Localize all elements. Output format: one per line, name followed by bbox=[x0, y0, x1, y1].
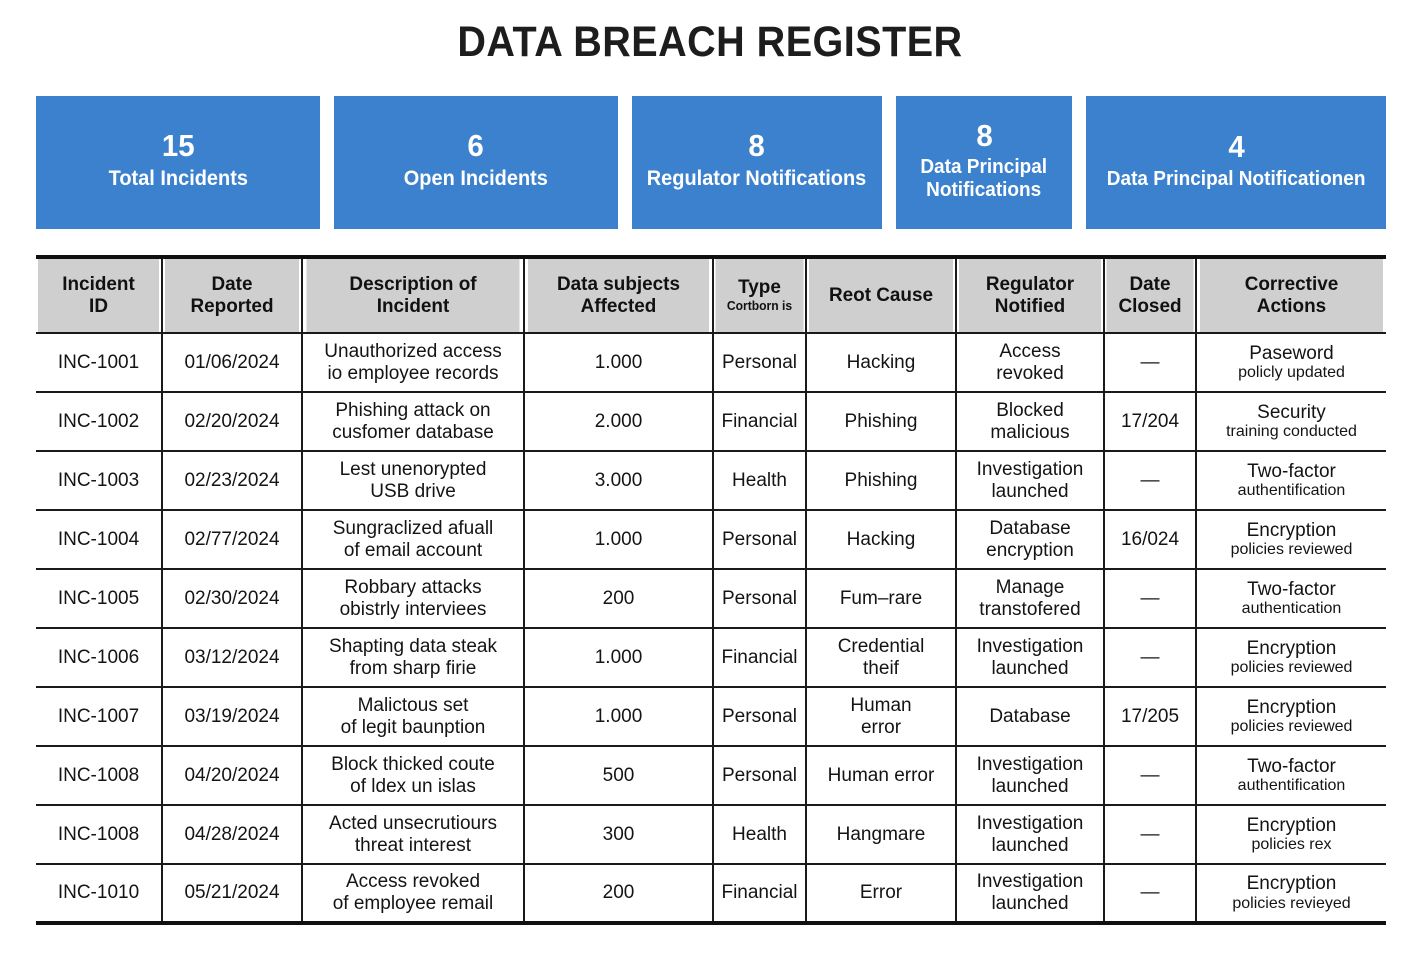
table-row[interactable]: INC-100402/77/2024Sungraclized afuallof … bbox=[36, 510, 1386, 569]
regulator-line-2: launched bbox=[961, 481, 1099, 503]
corrective-line-1: Encryption bbox=[1201, 520, 1382, 542]
kpi-card-total-incidents[interactable]: 15 Total Incidents bbox=[36, 96, 320, 229]
header-line-1: Reot Cause bbox=[829, 284, 933, 306]
description-line-2: threat interest bbox=[307, 835, 519, 857]
root-cause-line-1: Fum–rare bbox=[811, 588, 951, 610]
header-line-1: Date bbox=[211, 273, 252, 295]
cell-data-subjects-affected: 1.000 bbox=[524, 687, 713, 746]
cell-corrective-actions: Encryptionpolicies revieyed bbox=[1196, 864, 1386, 923]
kpi-value: 6 bbox=[468, 130, 484, 163]
regulator-line-1: Investigation bbox=[961, 754, 1099, 776]
column-header-incident-id[interactable]: Incident ID bbox=[38, 257, 160, 333]
description-line-1: Acted unsecrutiours bbox=[307, 813, 519, 835]
cell-incident-id: INC-1010 bbox=[36, 864, 162, 923]
cell-incident-id: INC-1005 bbox=[36, 569, 162, 628]
cell-date-closed: — bbox=[1104, 746, 1196, 805]
cell-root-cause: Humanerror bbox=[806, 687, 956, 746]
cell-corrective-actions: Encryptionpolicies rex bbox=[1196, 805, 1386, 864]
cell-regulator-notified: Investigationlaunched bbox=[956, 451, 1104, 510]
incident-id-value: INC-1008 bbox=[40, 824, 157, 846]
regulator-line-2: launched bbox=[961, 893, 1099, 915]
cell-regulator-notified: Databaseencryption bbox=[956, 510, 1104, 569]
cell-corrective-actions: Encryptionpolicies reviewed bbox=[1196, 628, 1386, 687]
column-header-regulator-notified[interactable]: Regulator Notified bbox=[958, 257, 1102, 333]
root-cause-line-1: Phishing bbox=[811, 411, 951, 433]
date-closed-value: 17/204 bbox=[1109, 411, 1191, 433]
data-subjects-value: 300 bbox=[529, 824, 708, 846]
root-cause-line-1: Credential bbox=[811, 636, 951, 658]
root-cause-line-1: Error bbox=[811, 882, 951, 904]
cell-data-subjects-affected: 1.000 bbox=[524, 333, 713, 392]
type-value: Personal bbox=[718, 706, 801, 728]
cell-root-cause: Phishing bbox=[806, 451, 956, 510]
corrective-line-1: Two-factor bbox=[1201, 579, 1382, 601]
description-line-2: USB drive bbox=[307, 481, 519, 503]
description-line-2: obistrly interviees bbox=[307, 599, 519, 621]
date-closed-value: — bbox=[1109, 824, 1191, 846]
root-cause-line-1: Phishing bbox=[811, 470, 951, 492]
regulator-line-2: malicious bbox=[961, 422, 1099, 444]
corrective-line-2: policly updated bbox=[1201, 364, 1382, 382]
regulator-line-1: Database bbox=[961, 518, 1099, 540]
regulator-line-1: Investigation bbox=[961, 871, 1099, 893]
cell-data-subjects-affected: 1.000 bbox=[524, 510, 713, 569]
cell-description: Malictous setof legit baunption bbox=[302, 687, 524, 746]
column-header-data-subjects-affected[interactable]: Data subjects Affected bbox=[527, 257, 710, 333]
header-line-2: Notified bbox=[995, 295, 1065, 317]
cell-date-reported: 04/20/2024 bbox=[162, 746, 302, 805]
cell-corrective-actions: Two-factorauthentification bbox=[1196, 746, 1386, 805]
incident-id-value: INC-1005 bbox=[40, 588, 157, 610]
date-closed-value: — bbox=[1109, 647, 1191, 669]
cell-incident-id: INC-1008 bbox=[36, 805, 162, 864]
column-header-description[interactable]: Description of Incident bbox=[305, 257, 520, 333]
cell-incident-id: INC-1007 bbox=[36, 687, 162, 746]
type-value: Health bbox=[718, 470, 801, 492]
date-reported-value: 04/28/2024 bbox=[167, 824, 297, 846]
kpi-label: Data Principal Notificationen bbox=[1107, 168, 1366, 190]
cell-date-reported: 02/20/2024 bbox=[162, 392, 302, 451]
cell-root-cause: Hacking bbox=[806, 510, 956, 569]
corrective-line-2: policies reviewed bbox=[1201, 541, 1382, 559]
table-header-row: Incident ID Date Reported Description of… bbox=[36, 257, 1386, 333]
description-line-1: Sungraclized afuall bbox=[307, 518, 519, 540]
cell-corrective-actions: Pasewordpolicly updated bbox=[1196, 333, 1386, 392]
corrective-line-2: authentication bbox=[1201, 600, 1382, 618]
kpi-label: Open Incidents bbox=[404, 167, 548, 191]
table-row[interactable]: INC-100502/30/2024Robbary attacksobistrl… bbox=[36, 569, 1386, 628]
cell-description: Lest unenoryptedUSB drive bbox=[302, 451, 524, 510]
cell-date-closed: — bbox=[1104, 451, 1196, 510]
table-row[interactable]: INC-100302/23/2024Lest unenoryptedUSB dr… bbox=[36, 451, 1386, 510]
type-value: Personal bbox=[718, 588, 801, 610]
corrective-line-2: policies reviewed bbox=[1201, 718, 1382, 736]
cell-type: Health bbox=[713, 805, 806, 864]
description-line-1: Block thicked coute bbox=[307, 754, 519, 776]
date-closed-value: — bbox=[1109, 588, 1191, 610]
cell-regulator-notified: Investigationlaunched bbox=[956, 864, 1104, 923]
date-reported-value: 02/77/2024 bbox=[167, 529, 297, 551]
root-cause-line-1: Hacking bbox=[811, 352, 951, 374]
data-subjects-value: 200 bbox=[529, 588, 708, 610]
cell-date-reported: 03/19/2024 bbox=[162, 687, 302, 746]
cell-date-reported: 02/23/2024 bbox=[162, 451, 302, 510]
regulator-line-2: revoked bbox=[961, 363, 1099, 385]
root-cause-line-1: Hangmare bbox=[811, 824, 951, 846]
header-line-2: Reported bbox=[190, 295, 273, 317]
table-row[interactable]: INC-100804/28/2024Acted unsecrutioursthr… bbox=[36, 805, 1386, 864]
data-subjects-value: 3.000 bbox=[529, 470, 708, 492]
root-cause-line-2: error bbox=[811, 717, 951, 739]
header-line-1: Type bbox=[738, 276, 781, 298]
corrective-line-2: training conducted bbox=[1201, 423, 1382, 441]
corrective-line-2: authentification bbox=[1201, 777, 1382, 795]
corrective-line-2: policies revieyed bbox=[1201, 895, 1382, 913]
kpi-card-regulator-notifications[interactable]: 8 Regulator Notifications bbox=[632, 96, 882, 229]
incident-id-value: INC-1001 bbox=[40, 352, 157, 374]
regulator-line-2: transtofered bbox=[961, 599, 1099, 621]
root-cause-line-1: Hacking bbox=[811, 529, 951, 551]
cell-date-reported: 03/12/2024 bbox=[162, 628, 302, 687]
cell-type: Personal bbox=[713, 687, 806, 746]
incident-id-value: INC-1008 bbox=[40, 765, 157, 787]
cell-regulator-notified: Accessrevoked bbox=[956, 333, 1104, 392]
corrective-line-1: Security bbox=[1201, 402, 1382, 424]
description-line-1: Robbary attacks bbox=[307, 577, 519, 599]
cell-regulator-notified: Investigationlaunched bbox=[956, 746, 1104, 805]
cell-incident-id: INC-1003 bbox=[36, 451, 162, 510]
type-value: Financial bbox=[718, 411, 801, 433]
corrective-line-2: policies reviewed bbox=[1201, 659, 1382, 677]
table-row[interactable]: INC-100703/19/2024Malictous setof legit … bbox=[36, 687, 1386, 746]
date-closed-value: — bbox=[1109, 352, 1191, 374]
type-value: Personal bbox=[718, 765, 801, 787]
cell-description: Phishing attack oncusfomer database bbox=[302, 392, 524, 451]
kpi-value: 8 bbox=[749, 130, 765, 163]
corrective-line-1: Encryption bbox=[1201, 697, 1382, 719]
cell-data-subjects-affected: 1.000 bbox=[524, 628, 713, 687]
kpi-card-open-incidents[interactable]: 6 Open Incidents bbox=[334, 96, 618, 229]
incident-id-value: INC-1010 bbox=[40, 882, 157, 904]
cell-description: Sungraclized afuallof email account bbox=[302, 510, 524, 569]
cell-date-reported: 02/30/2024 bbox=[162, 569, 302, 628]
type-value: Personal bbox=[718, 352, 801, 374]
cell-incident-id: INC-1002 bbox=[36, 392, 162, 451]
description-line-1: Access revoked bbox=[307, 871, 519, 893]
cell-data-subjects-affected: 500 bbox=[524, 746, 713, 805]
column-header-type[interactable]: Type Cortborn is bbox=[714, 257, 804, 333]
description-line-1: Shapting data steak bbox=[307, 636, 519, 658]
header-line-1: Incident bbox=[62, 273, 135, 295]
date-closed-value: 17/205 bbox=[1109, 706, 1191, 728]
root-cause-line-1: Human error bbox=[811, 765, 951, 787]
cell-regulator-notified: Investigationlaunched bbox=[956, 628, 1104, 687]
table-body: INC-100101/06/2024Unauthorized accessio … bbox=[36, 333, 1386, 923]
kpi-label: Regulator Notifications bbox=[647, 167, 866, 191]
regulator-line-2: launched bbox=[961, 658, 1099, 680]
date-closed-value: — bbox=[1109, 882, 1191, 904]
regulator-line-2: launched bbox=[961, 835, 1099, 857]
cell-regulator-notified: Managetranstofered bbox=[956, 569, 1104, 628]
cell-date-closed: 16/024 bbox=[1104, 510, 1196, 569]
regulator-line-1: Investigation bbox=[961, 636, 1099, 658]
column-header-root-cause[interactable]: Reot Cause bbox=[808, 257, 954, 333]
cell-type: Personal bbox=[713, 510, 806, 569]
type-value: Personal bbox=[718, 529, 801, 551]
cell-date-reported: 02/77/2024 bbox=[162, 510, 302, 569]
header-line-1: Corrective bbox=[1245, 273, 1339, 295]
description-line-2: of email account bbox=[307, 540, 519, 562]
cell-data-subjects-affected: 200 bbox=[524, 569, 713, 628]
type-value: Financial bbox=[718, 882, 801, 904]
cell-corrective-actions: Two-factorauthentification bbox=[1196, 451, 1386, 510]
cell-corrective-actions: Encryptionpolicies reviewed bbox=[1196, 687, 1386, 746]
table-row[interactable]: INC-100603/12/2024Shapting data steakfro… bbox=[36, 628, 1386, 687]
data-subjects-value: 500 bbox=[529, 765, 708, 787]
register-table-wrapper: Incident ID Date Reported Description of… bbox=[36, 255, 1386, 925]
regulator-line-1: Investigation bbox=[961, 813, 1099, 835]
header-line-1: Regulator bbox=[986, 273, 1074, 295]
description-line-2: of legit baunption bbox=[307, 717, 519, 739]
header-line-2: ID bbox=[89, 295, 108, 317]
cell-regulator-notified: Investigationlaunched bbox=[956, 805, 1104, 864]
description-line-2: of employee remail bbox=[307, 893, 519, 915]
description-line-2: of ldex un islas bbox=[307, 776, 519, 798]
kpi-card-data-principal-notificationen[interactable]: 4 Data Principal Notificationen bbox=[1086, 96, 1386, 229]
page-title: DATA BREACH REGISTER bbox=[57, 18, 1363, 67]
corrective-line-1: Encryption bbox=[1201, 873, 1382, 895]
cell-root-cause: Error bbox=[806, 864, 956, 923]
cell-description: Block thicked couteof ldex un islas bbox=[302, 746, 524, 805]
kpi-value: 15 bbox=[162, 130, 195, 163]
cell-description: Unauthorized accessio employee records bbox=[302, 333, 524, 392]
incident-id-value: INC-1006 bbox=[40, 647, 157, 669]
cell-regulator-notified: Blockedmalicious bbox=[956, 392, 1104, 451]
cell-type: Financial bbox=[713, 392, 806, 451]
description-line-1: Phishing attack on bbox=[307, 400, 519, 422]
date-reported-value: 02/20/2024 bbox=[167, 411, 297, 433]
header-line-2: Closed bbox=[1118, 295, 1181, 317]
cell-root-cause: Phishing bbox=[806, 392, 956, 451]
incident-id-value: INC-1007 bbox=[40, 706, 157, 728]
regulator-line-2: launched bbox=[961, 776, 1099, 798]
data-subjects-value: 1.000 bbox=[529, 647, 708, 669]
date-reported-value: 03/12/2024 bbox=[167, 647, 297, 669]
cell-root-cause: Hacking bbox=[806, 333, 956, 392]
kpi-value: 4 bbox=[1228, 131, 1244, 164]
cell-incident-id: INC-1004 bbox=[36, 510, 162, 569]
cell-root-cause: Human error bbox=[806, 746, 956, 805]
cell-data-subjects-affected: 300 bbox=[524, 805, 713, 864]
cell-regulator-notified: Database bbox=[956, 687, 1104, 746]
corrective-line-1: Two-factor bbox=[1201, 461, 1382, 483]
cell-data-subjects-affected: 2.000 bbox=[524, 392, 713, 451]
kpi-card-row: 15 Total Incidents 6 Open Incidents 8 Re… bbox=[36, 96, 1386, 229]
date-reported-value: 01/06/2024 bbox=[167, 352, 297, 374]
date-closed-value: 16/024 bbox=[1109, 529, 1191, 551]
header-line-2: Incident bbox=[377, 295, 450, 317]
description-line-2: cusfomer database bbox=[307, 422, 519, 444]
table-row[interactable]: INC-100804/20/2024Block thicked couteof … bbox=[36, 746, 1386, 805]
regulator-line-1: Database bbox=[961, 706, 1099, 728]
header-line-1: Data subjects bbox=[557, 273, 680, 295]
regulator-line-1: Manage bbox=[961, 577, 1099, 599]
cell-data-subjects-affected: 200 bbox=[524, 864, 713, 923]
root-cause-line-2: theif bbox=[811, 658, 951, 680]
cell-date-reported: 01/06/2024 bbox=[162, 333, 302, 392]
corrective-line-1: Encryption bbox=[1201, 815, 1382, 837]
corrective-line-2: authentification bbox=[1201, 482, 1382, 500]
corrective-line-1: Paseword bbox=[1201, 343, 1382, 365]
kpi-label: Total Incidents bbox=[108, 167, 247, 191]
cell-corrective-actions: Two-factorauthentication bbox=[1196, 569, 1386, 628]
column-header-corrective-actions[interactable]: Corrective Actions bbox=[1199, 257, 1383, 333]
column-header-date-reported[interactable]: Date Reported bbox=[164, 257, 300, 333]
root-cause-line-1: Human bbox=[811, 695, 951, 717]
cell-data-subjects-affected: 3.000 bbox=[524, 451, 713, 510]
header-line-1: Date bbox=[1129, 273, 1170, 295]
date-reported-value: 02/23/2024 bbox=[167, 470, 297, 492]
cell-incident-id: INC-1006 bbox=[36, 628, 162, 687]
type-value: Financial bbox=[718, 647, 801, 669]
cell-incident-id: INC-1008 bbox=[36, 746, 162, 805]
corrective-line-2: policies rex bbox=[1201, 836, 1382, 854]
data-subjects-value: 1.000 bbox=[529, 706, 708, 728]
cell-incident-id: INC-1001 bbox=[36, 333, 162, 392]
kpi-label: Data Principal Notifications bbox=[921, 156, 1048, 201]
corrective-line-1: Two-factor bbox=[1201, 756, 1382, 778]
cell-type: Financial bbox=[713, 864, 806, 923]
date-closed-value: — bbox=[1109, 765, 1191, 787]
cell-root-cause: Fum–rare bbox=[806, 569, 956, 628]
header-line-2: Affected bbox=[581, 295, 657, 317]
cell-description: Robbary attacksobistrly interviees bbox=[302, 569, 524, 628]
data-breach-register-table: Incident ID Date Reported Description of… bbox=[36, 255, 1386, 925]
cell-description: Access revokedof employee remail bbox=[302, 864, 524, 923]
table-header: Incident ID Date Reported Description of… bbox=[36, 257, 1386, 333]
cell-type: Personal bbox=[713, 569, 806, 628]
cell-root-cause: Credentialtheif bbox=[806, 628, 956, 687]
description-line-2: io employee records bbox=[307, 363, 519, 385]
date-reported-value: 02/30/2024 bbox=[167, 588, 297, 610]
table-row[interactable]: INC-100101/06/2024Unauthorized accessio … bbox=[36, 333, 1386, 392]
cell-type: Personal bbox=[713, 333, 806, 392]
cell-date-closed: — bbox=[1104, 333, 1196, 392]
column-header-date-closed[interactable]: Date Closed bbox=[1105, 257, 1194, 333]
cell-root-cause: Hangmare bbox=[806, 805, 956, 864]
cell-type: Personal bbox=[713, 746, 806, 805]
data-subjects-value: 200 bbox=[529, 882, 708, 904]
table-row[interactable]: INC-101005/21/2024Access revokedof emplo… bbox=[36, 864, 1386, 923]
data-breach-register-page: DATA BREACH REGISTER 15 Total Incidents … bbox=[0, 0, 1420, 960]
date-reported-value: 03/19/2024 bbox=[167, 706, 297, 728]
cell-date-closed: — bbox=[1104, 864, 1196, 923]
cell-corrective-actions: Securitytraining conducted bbox=[1196, 392, 1386, 451]
cell-date-closed: 17/205 bbox=[1104, 687, 1196, 746]
cell-date-reported: 05/21/2024 bbox=[162, 864, 302, 923]
incident-id-value: INC-1002 bbox=[40, 411, 157, 433]
cell-type: Financial bbox=[713, 628, 806, 687]
cell-description: Acted unsecrutioursthreat interest bbox=[302, 805, 524, 864]
cell-date-closed: — bbox=[1104, 569, 1196, 628]
cell-corrective-actions: Encryptionpolicies reviewed bbox=[1196, 510, 1386, 569]
description-line-1: Lest unenorypted bbox=[307, 459, 519, 481]
date-reported-value: 05/21/2024 bbox=[167, 882, 297, 904]
data-subjects-value: 1.000 bbox=[529, 529, 708, 551]
regulator-line-1: Access bbox=[961, 341, 1099, 363]
type-value: Health bbox=[718, 824, 801, 846]
corrective-line-1: Encryption bbox=[1201, 638, 1382, 660]
regulator-line-1: Investigation bbox=[961, 459, 1099, 481]
regulator-line-1: Blocked bbox=[961, 400, 1099, 422]
kpi-value: 8 bbox=[976, 120, 992, 153]
header-line-2: Actions bbox=[1257, 295, 1326, 317]
table-row[interactable]: INC-100202/20/2024Phishing attack oncusf… bbox=[36, 392, 1386, 451]
date-closed-value: — bbox=[1109, 470, 1191, 492]
cell-date-closed: — bbox=[1104, 805, 1196, 864]
cell-date-closed: — bbox=[1104, 628, 1196, 687]
incident-id-value: INC-1004 bbox=[40, 529, 157, 551]
description-line-1: Unauthorized access bbox=[307, 341, 519, 363]
description-line-2: from sharp firie bbox=[307, 658, 519, 680]
header-line-1: Description of bbox=[349, 273, 476, 295]
data-subjects-value: 2.000 bbox=[529, 411, 708, 433]
description-line-1: Malictous set bbox=[307, 695, 519, 717]
regulator-line-2: encryption bbox=[961, 540, 1099, 562]
data-subjects-value: 1.000 bbox=[529, 352, 708, 374]
kpi-card-data-principal-notifications[interactable]: 8 Data Principal Notifications bbox=[896, 96, 1072, 229]
cell-date-closed: 17/204 bbox=[1104, 392, 1196, 451]
cell-type: Health bbox=[713, 451, 806, 510]
date-reported-value: 04/20/2024 bbox=[167, 765, 297, 787]
cell-date-reported: 04/28/2024 bbox=[162, 805, 302, 864]
cell-description: Shapting data steakfrom sharp firie bbox=[302, 628, 524, 687]
header-subtext: Cortborn is bbox=[719, 300, 800, 314]
incident-id-value: INC-1003 bbox=[40, 470, 157, 492]
